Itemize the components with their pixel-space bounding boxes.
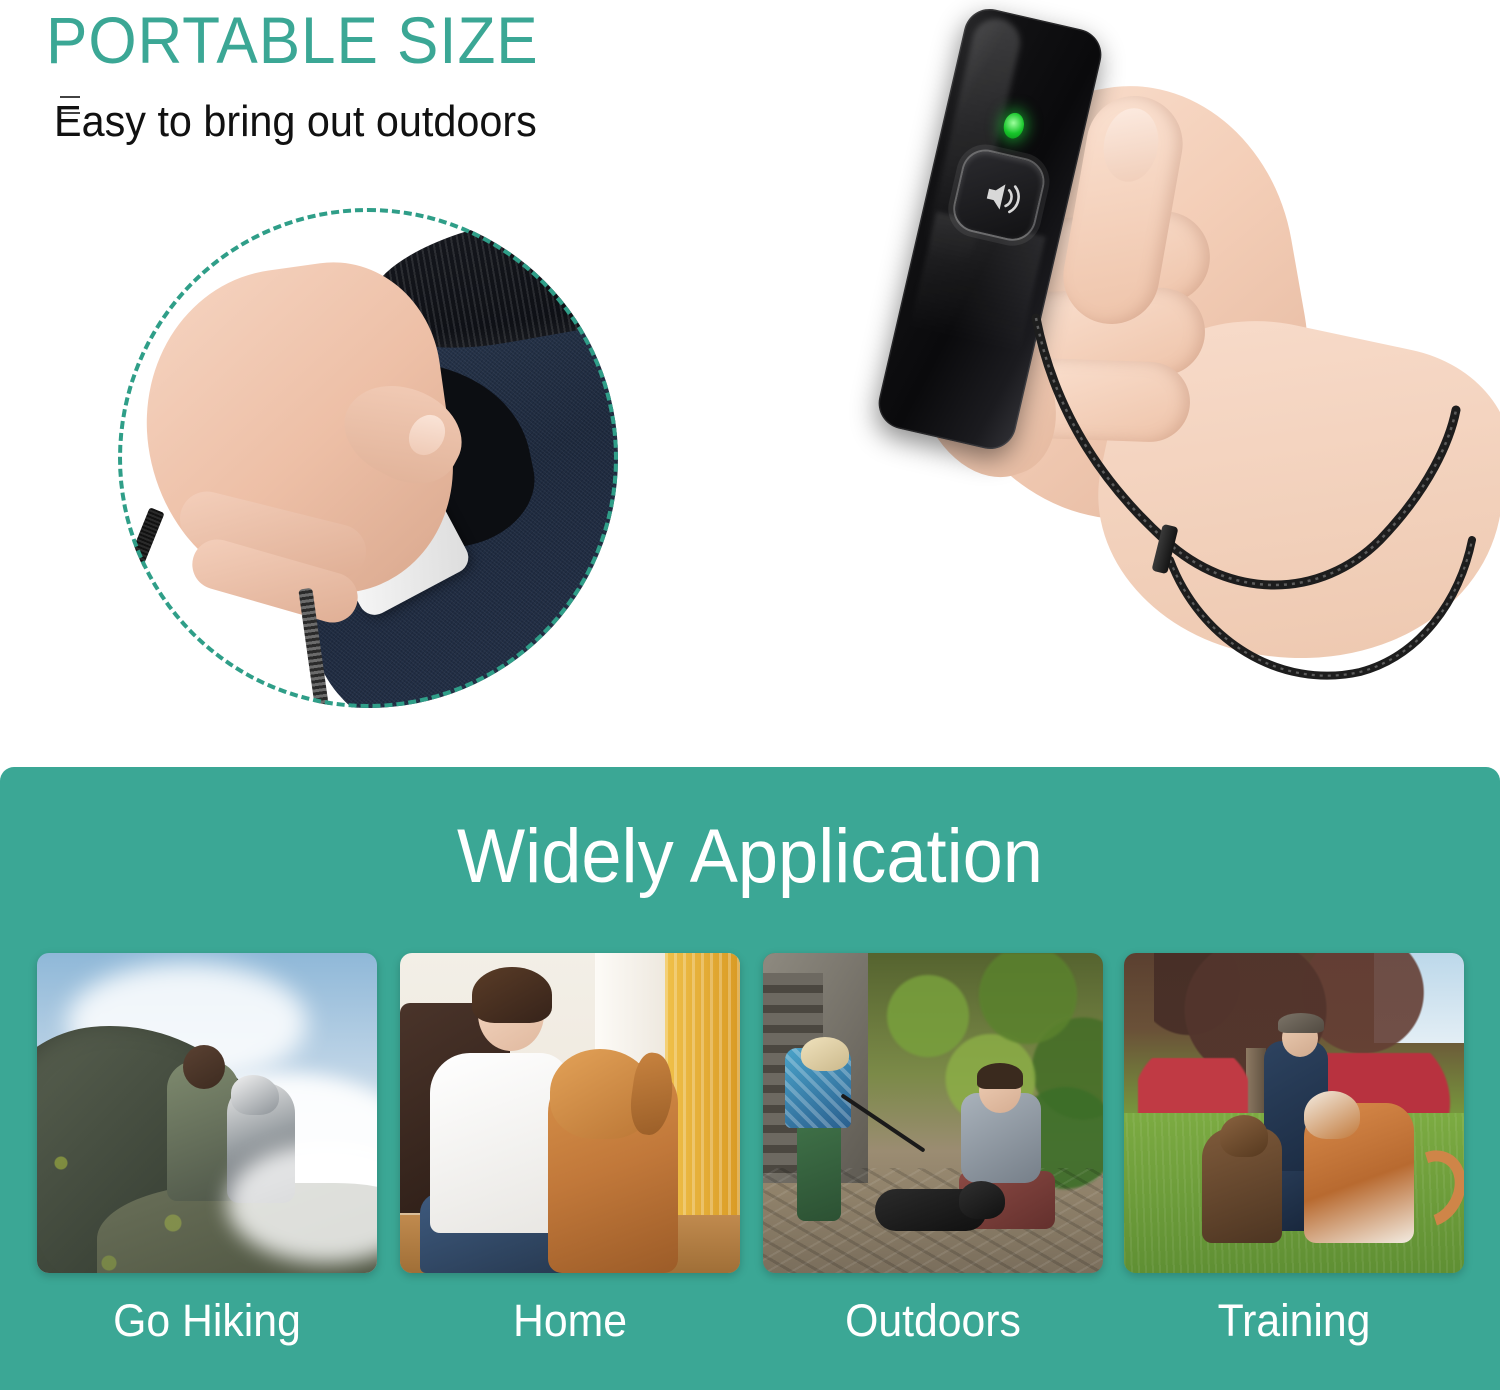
photo-hiking	[37, 953, 377, 1273]
application-card[interactable]: Outdoors	[763, 953, 1103, 1347]
photo-training	[1124, 953, 1464, 1273]
widely-application-section: Widely Application Go Hiking	[0, 767, 1500, 1390]
portable-size-section: PORTABLE SIZE Easy to bring out outdoors	[0, 0, 1500, 767]
subtitle-render-artifact	[60, 96, 80, 114]
trainer-cap	[1278, 1013, 1324, 1033]
card-caption: Home	[409, 1295, 732, 1347]
saint-bernard-head	[1304, 1091, 1360, 1139]
black-dog-head	[959, 1181, 1005, 1219]
application-card[interactable]: Home	[400, 953, 740, 1347]
pocket-photo	[118, 208, 618, 708]
woman-legs	[797, 1121, 841, 1221]
woman-hair	[472, 967, 552, 1023]
application-card[interactable]: Go Hiking	[37, 953, 377, 1347]
card-caption: Training	[1133, 1295, 1456, 1347]
hiker-head	[183, 1045, 225, 1089]
application-card[interactable]: Training	[1124, 953, 1464, 1347]
husky-head	[231, 1075, 279, 1115]
page-subtitle: Easy to bring out outdoors	[54, 97, 537, 147]
photo-home	[400, 953, 740, 1273]
application-card-grid: Go Hiking Home	[0, 953, 1500, 1373]
power-led-icon	[1001, 111, 1026, 141]
device-lower-sheen	[892, 212, 1046, 432]
man-hair	[977, 1063, 1023, 1089]
woman-hair	[801, 1037, 849, 1071]
photo-outdoors	[763, 953, 1103, 1273]
card-caption: Go Hiking	[46, 1295, 369, 1347]
hero-hand-holding-device	[860, 0, 1500, 760]
section-title: Widely Application	[38, 814, 1463, 900]
lanyard-strap	[127, 507, 164, 569]
speaker-sound-wave-icon	[973, 171, 1027, 220]
brindle-dog-head	[1220, 1115, 1268, 1157]
page-title: PORTABLE SIZE	[46, 4, 539, 76]
card-caption: Outdoors	[772, 1295, 1095, 1347]
